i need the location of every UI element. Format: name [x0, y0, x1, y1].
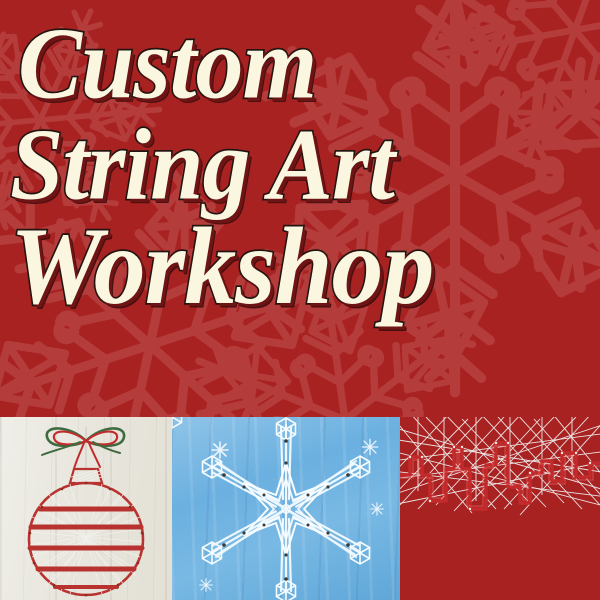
title-line-2: String Art [10, 115, 600, 214]
title-line-3: Workshop [10, 214, 600, 321]
photo-snowflake [172, 417, 400, 600]
hero-banner: Custom String Art Workshop [0, 0, 600, 417]
photo-ornament [0, 417, 172, 600]
snowflake-string-art-illustration [172, 417, 400, 600]
photo-skyline [400, 417, 600, 600]
ornament-string-art-illustration [0, 417, 172, 600]
title-line-1: Custom [18, 14, 600, 113]
skyline-string-art-illustration [400, 417, 600, 600]
poster-title: Custom String Art Workshop [0, 0, 600, 417]
project-photo-strip [0, 417, 600, 600]
poster-canvas: Custom String Art Workshop [0, 0, 600, 600]
